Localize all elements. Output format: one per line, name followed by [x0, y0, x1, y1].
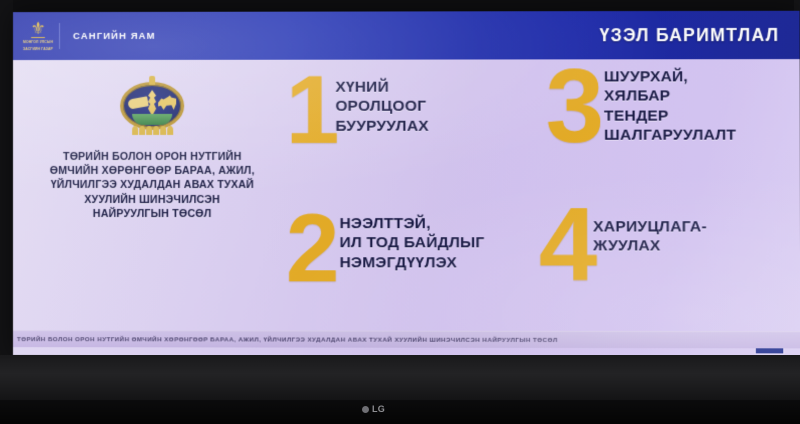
- mongolia-state-emblem-icon: ⚜ МОНГОЛ УЛСЫН ЗАСГИЙН ГАЗАР: [27, 21, 49, 51]
- key-point-label: ШУУРХАЙ, ХЯЛБАР ТЕНДЕР ШАЛГАРУУЛАЛТ: [604, 64, 736, 145]
- emblem-base: [130, 126, 174, 137]
- ministry-name: САНГИЙН ЯАМ: [73, 30, 156, 41]
- lg-brand-logo: LG: [362, 404, 385, 414]
- key-point-1: 1 ХҮНИЙ ОРОЛЦООГ БУУРУУЛАХ: [286, 72, 429, 151]
- slide-title: ҮЗЭЛ БАРИМТЛАЛ: [600, 24, 780, 45]
- tv-stand-shelf: [0, 400, 800, 424]
- mongolia-state-emblem-icon: [116, 74, 188, 140]
- key-point-number: 2: [286, 210, 338, 289]
- key-point-label: НЭЭЛТТЭЙ, ИЛ ТОД БАЙДЛЫГ НЭМЭГДҮҮЛЭХ: [339, 208, 484, 273]
- document-title: ТӨРИЙН БОЛОН ОРОН НУТГИЙН ӨМЧИЙН ХӨРӨНГӨ…: [47, 150, 258, 221]
- header-branding: ⚜ МОНГОЛ УЛСЫН ЗАСГИЙН ГАЗАР САНГИЙН ЯАМ: [13, 12, 156, 60]
- presentation-slide: ⚜ МОНГОЛ УЛСЫН ЗАСГИЙН ГАЗАР САНГИЙН ЯАМ…: [13, 11, 800, 357]
- key-point-4: 4 ХАРИУЦЛАГА- ЖУУЛАХ: [539, 205, 707, 289]
- logo-caption-line1: МОНГОЛ УЛСЫН: [23, 40, 53, 44]
- ticker-text: ТӨРИЙН БОЛОН ОРОН НУТГИЙН ӨМЧИЙН ХӨРӨНГӨ…: [13, 336, 558, 344]
- key-point-number: 1: [286, 72, 338, 151]
- lg-brand-text: LG: [372, 404, 385, 414]
- key-point-label: ХҮНИЙ ОРОЛЦООГ БУУРУУЛАХ: [335, 72, 429, 136]
- key-points-grid: 1 ХҮНИЙ ОРОЛЦООГ БУУРУУЛАХ 3 ШУУРХАЙ, ХЯ…: [272, 59, 800, 331]
- slide-body: ТӨРИЙН БОЛОН ОРОН НУТГИЙН ӨМЧИЙН ХӨРӨНГӨ…: [13, 59, 800, 331]
- emblem-finial: [149, 76, 155, 85]
- key-point-number: 4: [539, 203, 596, 289]
- slide-ticker: ТӨРИЙН БОЛОН ОРОН НУТГИЙН ӨМЧИЙН ХӨРӨНГӨ…: [13, 330, 800, 348]
- document-title-block: ТӨРИЙН БОЛОН ОРОН НУТГИЙН ӨМЧИЙН ХӨРӨНГӨ…: [47, 74, 258, 221]
- tv-bezel-bottom: [0, 355, 800, 402]
- key-point-2: 2 НЭЭЛТТЭЙ, ИЛ ТОД БАЙДЛЫГ НЭМЭГДҮҮЛЭХ: [286, 208, 485, 289]
- slide-header: ⚜ МОНГОЛ УЛСЫН ЗАСГИЙН ГАЗАР САНГИЙН ЯАМ…: [13, 11, 800, 60]
- tv-screen-photo: ⚜ МОНГОЛ УЛСЫН ЗАСГИЙН ГАЗАР САНГИЙН ЯАМ…: [0, 0, 800, 424]
- emblem-bar: [31, 37, 45, 38]
- key-point-number: 3: [546, 64, 603, 150]
- header-divider: [59, 23, 60, 49]
- logo-caption-line2: ЗАСГИЙН ГАЗАР: [23, 47, 53, 51]
- emblem-landscape: [132, 114, 172, 125]
- key-point-3: 3 ШУУРХАЙ, ХЯЛБАР ТЕНДЕР ШАЛГАРУУЛАЛТ: [546, 64, 737, 150]
- emblem-glyph: ⚜: [30, 21, 45, 36]
- lg-dot-icon: [362, 406, 369, 413]
- key-point-label: ХАРИУЦЛАГА- ЖУУЛАХ: [593, 205, 707, 256]
